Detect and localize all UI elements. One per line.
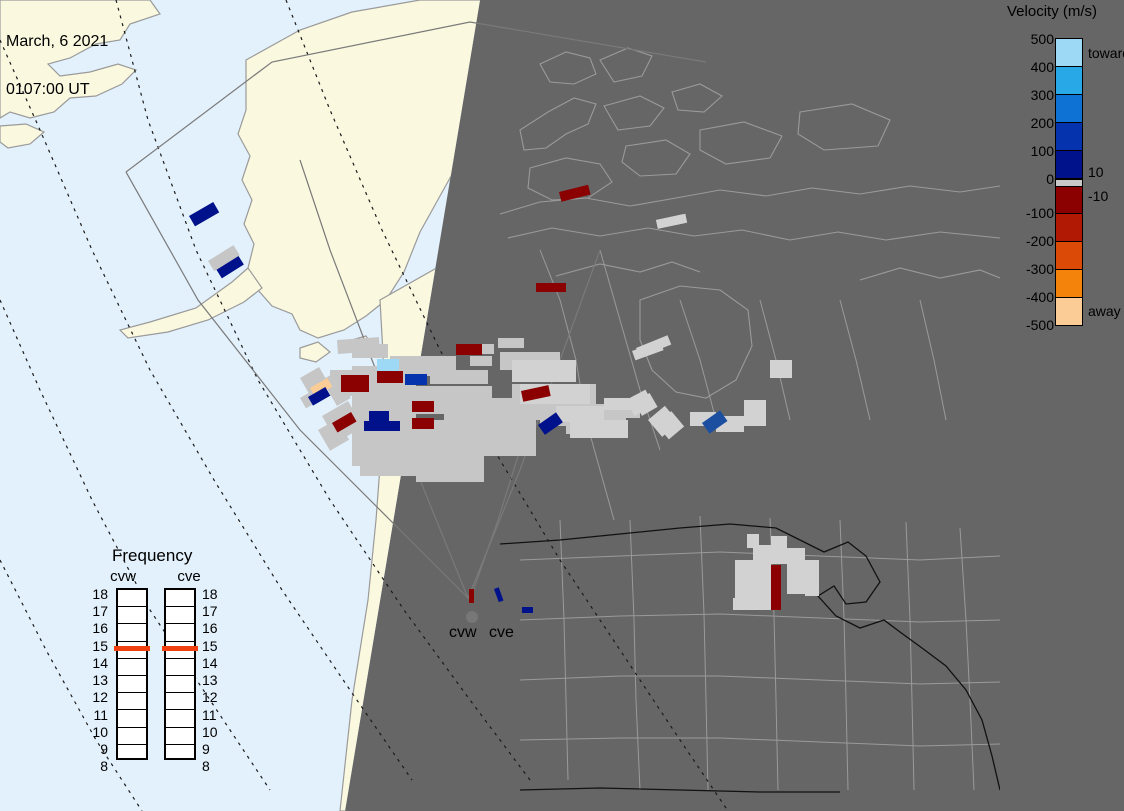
velocity-cell	[377, 359, 399, 371]
frequency-tick: 10	[92, 724, 108, 740]
velocity-cell	[412, 401, 434, 412]
frequency-tick: 14	[202, 655, 218, 671]
colorbar-tick: 300	[1031, 87, 1054, 103]
colorbar-tick: -500	[1026, 317, 1054, 333]
colorbar-gradient[interactable]	[1055, 38, 1083, 326]
frequency-column-header-cve: cve	[158, 568, 220, 585]
site-label-cve: cve	[489, 624, 514, 642]
colorbar-segment	[1056, 270, 1082, 298]
velocity-cell	[536, 283, 566, 292]
frequency-cell	[118, 590, 146, 607]
colorbar-tick: -200	[1026, 233, 1054, 249]
velocity-cell	[771, 565, 781, 610]
frequency-tick: 9	[100, 741, 108, 757]
colorbar-tick: 200	[1031, 115, 1054, 131]
velocity-cell	[380, 421, 400, 431]
colorbar-tick: -100	[1026, 205, 1054, 221]
frequency-marker-cve	[162, 646, 198, 651]
frequency-tick: 8	[100, 758, 108, 774]
timestamp-time: 0107:00 UT	[6, 82, 108, 98]
frequency-tick: 18	[202, 586, 218, 602]
velocity-cell	[341, 375, 369, 392]
frequency-tick: 18	[92, 586, 108, 602]
colorbar-segment	[1056, 214, 1082, 242]
frequency-cell	[118, 607, 146, 624]
frequency-tick: 15	[92, 638, 108, 654]
frequency-cell	[166, 659, 194, 676]
velocity-colorbar-panel: Velocity (m/s) 500 400 300 200 100 0 -10…	[1000, 0, 1124, 811]
frequency-tick: 12	[202, 689, 218, 705]
velocity-cell	[412, 418, 434, 429]
frequency-cell	[118, 728, 146, 745]
frequency-cell	[118, 693, 146, 710]
colorbar-segment	[1056, 242, 1082, 270]
frequency-tick: 16	[92, 620, 108, 636]
frequency-tick: 9	[202, 741, 210, 757]
timestamp: March, 6 2021 0107:00 UT	[6, 2, 108, 130]
velocity-cell	[456, 344, 482, 355]
frequency-tick: 14	[92, 655, 108, 671]
velocity-cell	[369, 411, 389, 421]
colorbar-segment	[1056, 187, 1082, 215]
frequency-tick: 11	[93, 707, 108, 723]
colorbar-away-label: away	[1088, 303, 1121, 319]
frequency-tick: 11	[202, 707, 217, 723]
colorbar-near-zero-positive-label: 10	[1088, 164, 1104, 180]
frequency-tick: 15	[202, 638, 218, 654]
map-canvas[interactable]: cvw cve March, 6 2021 0107:00 UT Frequen…	[0, 0, 1000, 811]
colorbar-title: Velocity (m/s)	[1007, 3, 1124, 20]
frequency-marker-cvw	[114, 646, 150, 651]
colorbar-tick: 400	[1031, 59, 1054, 75]
colorbar-tick: -300	[1026, 261, 1054, 277]
frequency-tick: 12	[92, 689, 108, 705]
frequency-tick: 13	[92, 672, 108, 688]
frequency-cell	[166, 624, 194, 641]
velocity-cell	[377, 371, 403, 383]
frequency-cell	[166, 607, 194, 624]
colorbar-tick: 0	[1046, 171, 1054, 187]
frequency-cell	[118, 659, 146, 676]
colorbar-segment	[1056, 95, 1082, 123]
colorbar-segment	[1056, 123, 1082, 151]
frequency-legend-title: Frequency	[112, 546, 192, 566]
velocity-cell	[405, 374, 427, 385]
colorbar-segment	[1056, 151, 1082, 179]
frequency-cell	[166, 745, 194, 762]
frequency-tick: 16	[202, 620, 218, 636]
colorbar-tick: 100	[1031, 143, 1054, 159]
frequency-legend: Frequency cvw 18 17 16	[86, 546, 246, 791]
colorbar-segment	[1056, 298, 1082, 325]
frequency-cell	[118, 676, 146, 693]
frequency-cell	[118, 745, 146, 762]
colorbar-toward-label: toward	[1088, 45, 1124, 61]
colorbar-zero-band	[1056, 179, 1082, 187]
frequency-cell	[166, 710, 194, 727]
frequency-cell	[118, 624, 146, 641]
frequency-tick: 10	[202, 724, 218, 740]
frequency-tick: 8	[202, 758, 210, 774]
velocity-cell	[469, 589, 474, 603]
frequency-tick: 17	[202, 603, 218, 619]
frequency-cell	[166, 693, 194, 710]
colorbar-tick: 500	[1031, 31, 1054, 47]
frequency-tick: 17	[92, 603, 108, 619]
frequency-cell	[118, 710, 146, 727]
colorbar-segment	[1056, 67, 1082, 95]
colorbar-near-zero-negative-label: -10	[1088, 188, 1108, 204]
frequency-column-header-cvw: cvw	[92, 568, 154, 585]
frequency-bar-cvw[interactable]	[116, 588, 148, 760]
superdarn-velocity-map: cvw cve March, 6 2021 0107:00 UT Frequen…	[0, 0, 1124, 811]
frequency-bar-cve[interactable]	[164, 588, 196, 760]
radar-site-marker[interactable]	[466, 611, 478, 623]
frequency-cell	[166, 676, 194, 693]
frequency-cell	[166, 728, 194, 745]
frequency-tick: 13	[202, 672, 218, 688]
colorbar-segment	[1056, 39, 1082, 67]
velocity-cell	[522, 607, 533, 613]
colorbar-tick: -400	[1026, 289, 1054, 305]
timestamp-date: March, 6 2021	[6, 34, 108, 50]
site-label-cvw: cvw	[449, 624, 477, 642]
frequency-cell	[166, 590, 194, 607]
